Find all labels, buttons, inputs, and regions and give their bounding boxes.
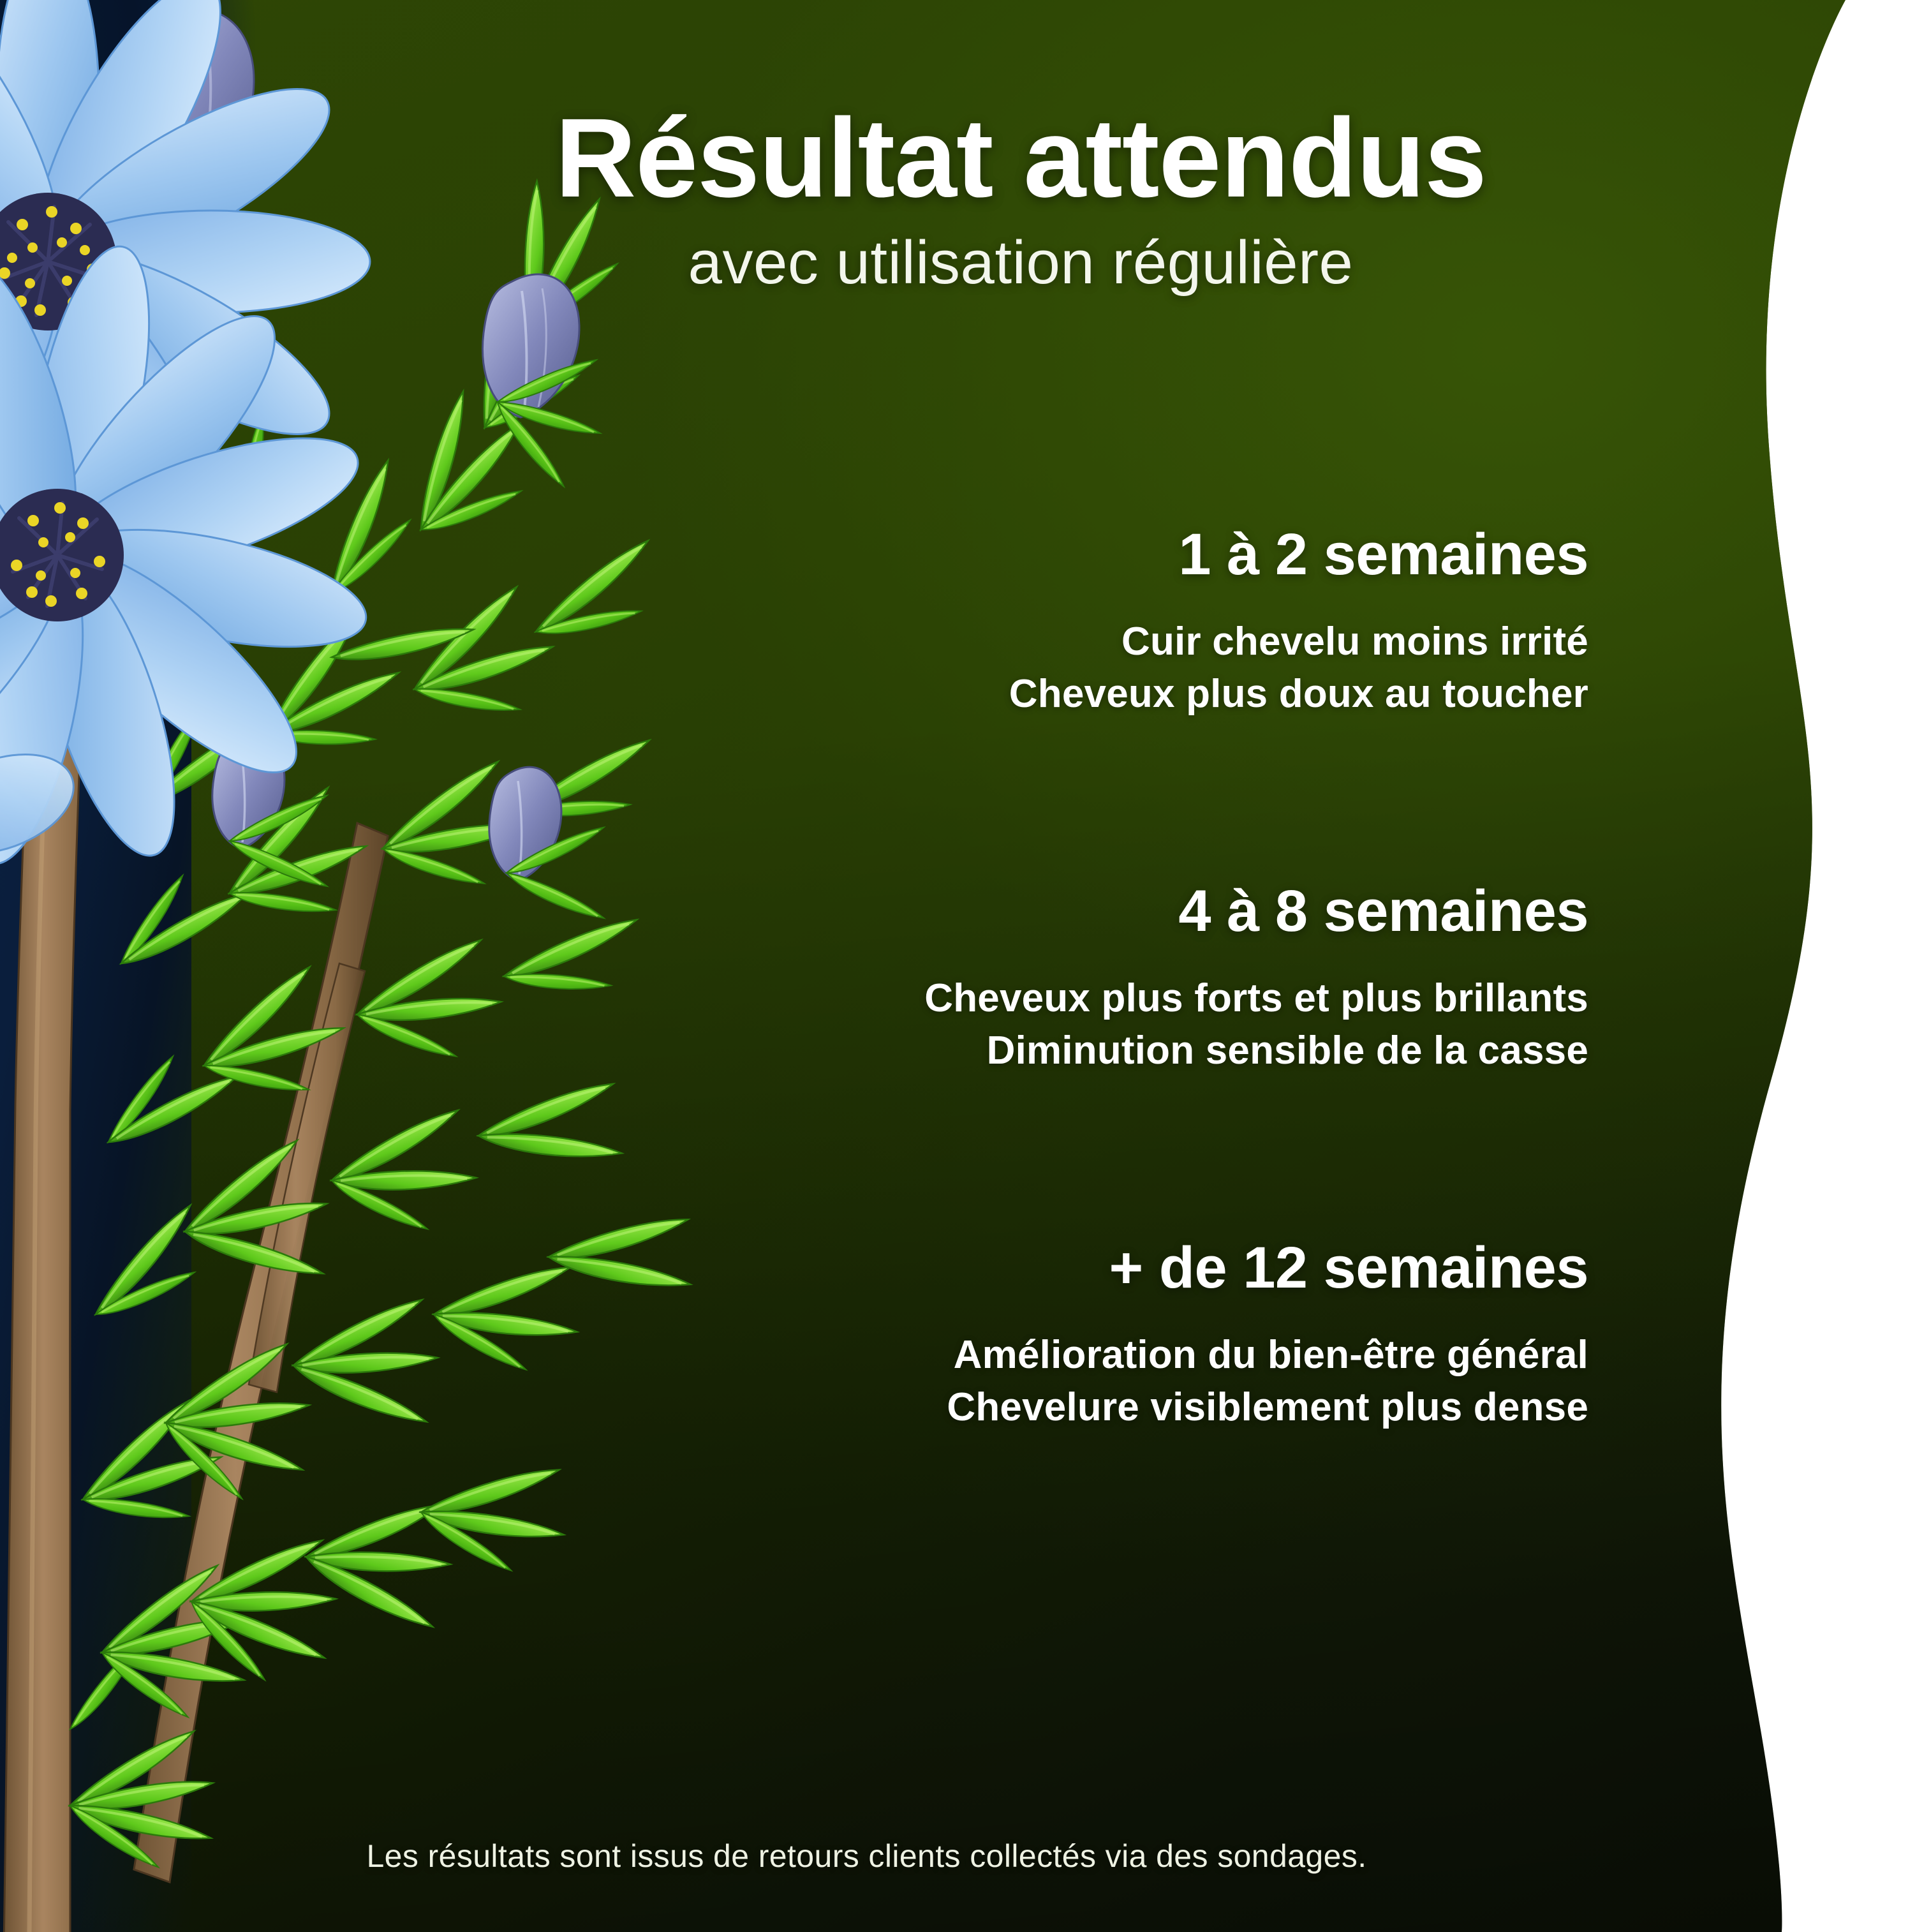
stage-1-benefit-1: Cuir chevelu moins irrité — [593, 616, 1588, 668]
page-title: Résultat attendus — [306, 102, 1735, 214]
stage-2-benefit-2: Diminution sensible de la casse — [593, 1025, 1588, 1077]
stage-2-benefit-1: Cheveux plus forts et plus brillants — [593, 972, 1588, 1025]
poster-canvas: Résultat attendus avec utilisation régul… — [0, 0, 1931, 1932]
timeline-stage-3: + de 12 semaines Amélioration du bien-êt… — [593, 1237, 1588, 1434]
stage-3-benefit-1: Amélioration du bien-être général — [593, 1329, 1588, 1381]
timeline-stage-2: 4 à 8 semaines Cheveux plus forts et plu… — [593, 880, 1588, 1077]
timeline-stage-1: 1 à 2 semaines Cuir chevelu moins irrité… — [593, 523, 1588, 720]
page-subtitle: avec utilisation régulière — [306, 225, 1735, 301]
stage-2-heading: 4 à 8 semaines — [593, 880, 1588, 943]
footnote-disclaimer: Les résultats sont issus de retours clie… — [0, 1838, 1733, 1875]
stage-1-benefit-2: Cheveux plus doux au toucher — [593, 668, 1588, 720]
stage-3-heading: + de 12 semaines — [593, 1237, 1588, 1300]
stage-1-heading: 1 à 2 semaines — [593, 523, 1588, 586]
headline-block: Résultat attendus avec utilisation régul… — [306, 102, 1735, 301]
stage-3-benefit-2: Chevelure visiblement plus dense — [593, 1381, 1588, 1434]
results-timeline: 1 à 2 semaines Cuir chevelu moins irrité… — [593, 523, 1588, 1434]
